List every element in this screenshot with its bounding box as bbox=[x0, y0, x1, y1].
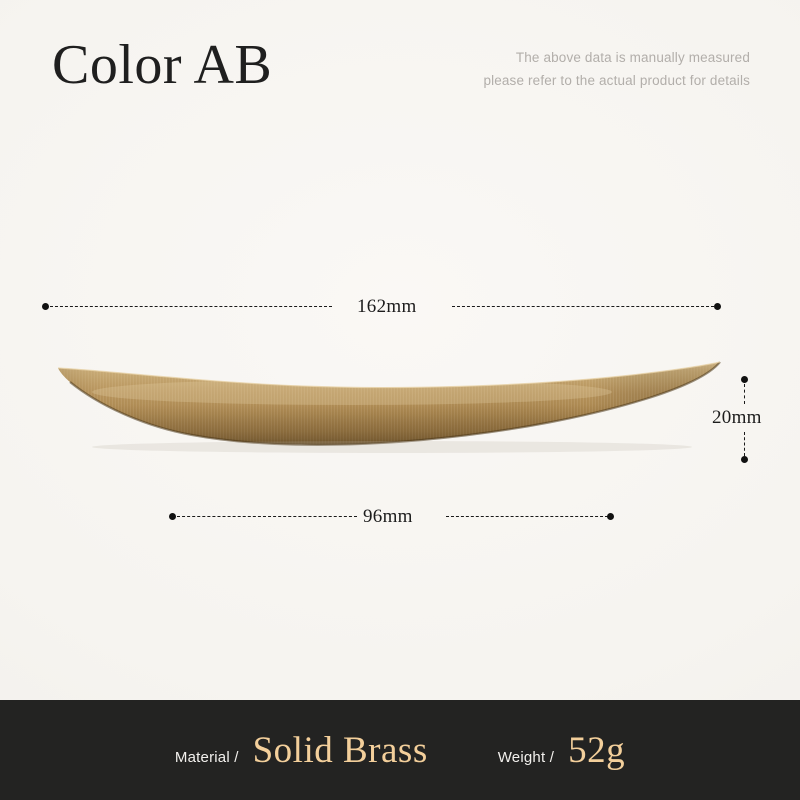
dim-96-left-endpoint bbox=[169, 513, 176, 520]
page-title: Color AB bbox=[52, 36, 272, 95]
material-label: Material / bbox=[175, 749, 239, 766]
disclaimer-line-2: please refer to the actual product for d… bbox=[483, 69, 750, 92]
dim-96-left-line bbox=[177, 516, 357, 517]
weight-label: Weight / bbox=[498, 749, 554, 766]
dim-162-right-endpoint bbox=[714, 303, 721, 310]
disclaimer-line-1: The above data is manually measured bbox=[483, 46, 750, 69]
spec-footer-content: Material / Solid Brass Weight / 52g bbox=[175, 729, 625, 772]
dim-162-right-line bbox=[452, 306, 714, 307]
dim-20-bottom-endpoint bbox=[741, 456, 748, 463]
weight-spec: Weight / 52g bbox=[498, 729, 625, 772]
material-spec: Material / Solid Brass bbox=[175, 729, 428, 772]
material-value: Solid Brass bbox=[253, 729, 428, 772]
dim-162-left-line bbox=[50, 306, 332, 307]
dim-162-label: 162mm bbox=[357, 296, 417, 318]
handle-icon bbox=[52, 352, 724, 454]
product-image bbox=[52, 352, 724, 454]
dim-20-label: 20mm bbox=[712, 407, 762, 429]
disclaimer-text: The above data is manually measured plea… bbox=[483, 46, 750, 92]
weight-value: 52g bbox=[568, 729, 625, 772]
dim-20-bottom-line bbox=[744, 432, 745, 456]
dim-162-left-endpoint bbox=[42, 303, 49, 310]
dim-20-top-line bbox=[744, 384, 745, 404]
product-spec-page: Color AB The above data is manually meas… bbox=[0, 0, 800, 800]
dim-96-right-line bbox=[446, 516, 608, 517]
dim-96-right-endpoint bbox=[607, 513, 614, 520]
dim-20-top-endpoint bbox=[741, 376, 748, 383]
spec-footer-bar: Material / Solid Brass Weight / 52g bbox=[0, 700, 800, 800]
dim-96-label: 96mm bbox=[363, 506, 413, 528]
